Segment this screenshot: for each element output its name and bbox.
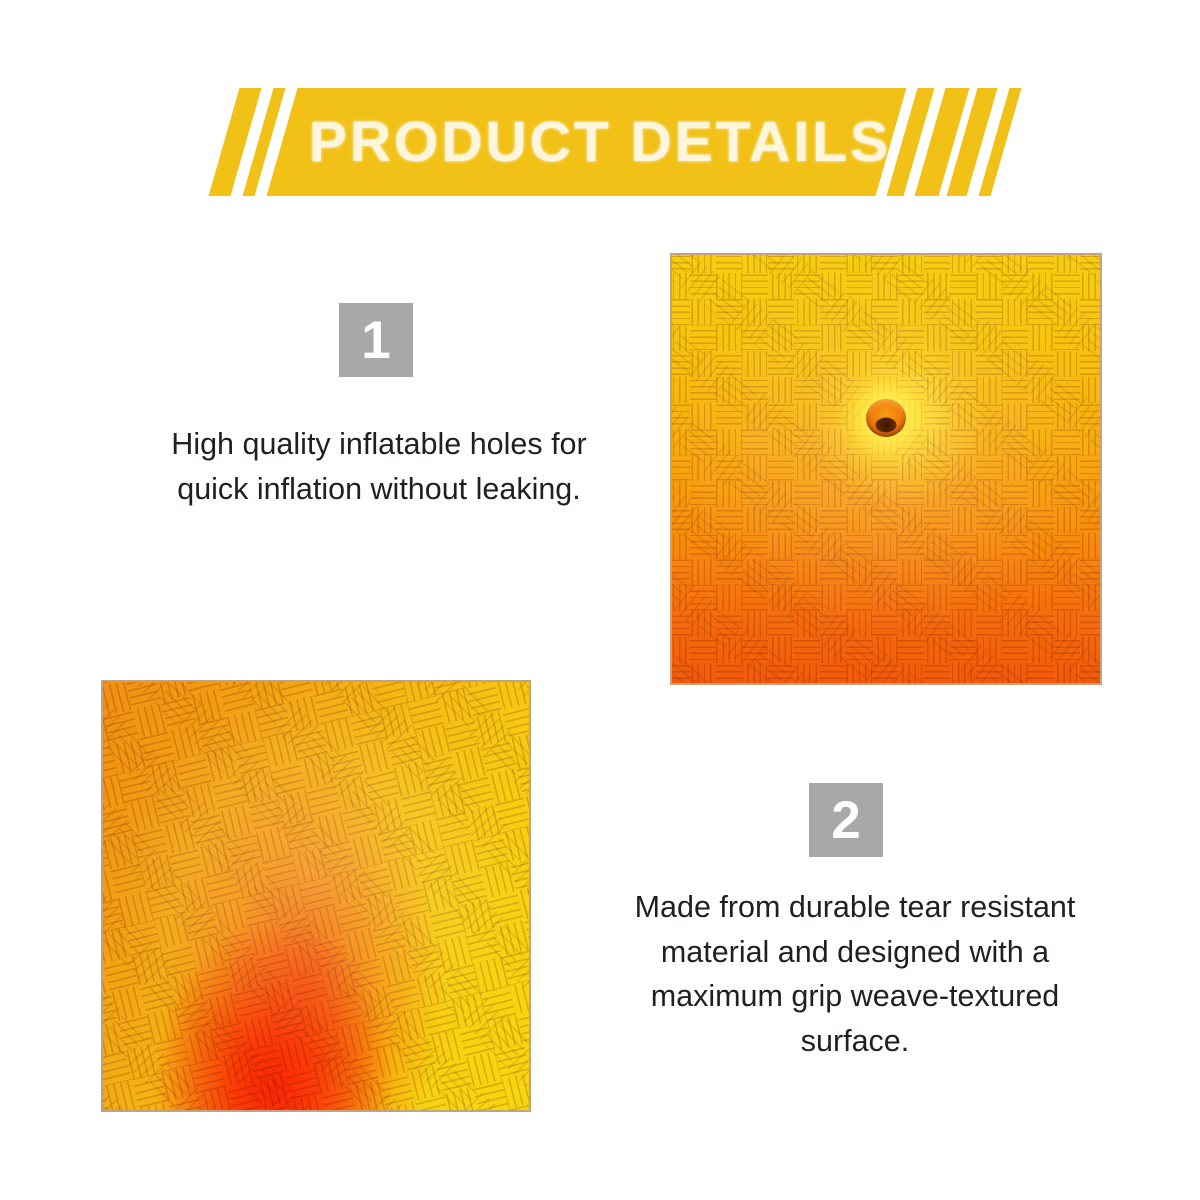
feature-1-number-badge: 1 [339, 303, 413, 377]
valve-hole [876, 418, 897, 433]
product-details-infographic: PRODUCT DETAILS 1 High quality inflatabl… [0, 0, 1200, 1200]
feature-2-product-photo [101, 680, 531, 1112]
feature-2-description: Made from durable tear resistant materia… [598, 885, 1112, 1063]
feature-2-number-badge: 2 [809, 783, 883, 857]
feature-1-product-photo [670, 253, 1102, 685]
inflation-valve-icon [838, 370, 934, 466]
header-banner: PRODUCT DETAILS [0, 88, 1200, 196]
photo-2-sheen [103, 682, 529, 1110]
feature-1-description: High quality inflatable holes for quick … [150, 422, 608, 511]
page-title: PRODUCT DETAILS [0, 88, 1200, 196]
photo-1-sheen [672, 255, 1100, 683]
